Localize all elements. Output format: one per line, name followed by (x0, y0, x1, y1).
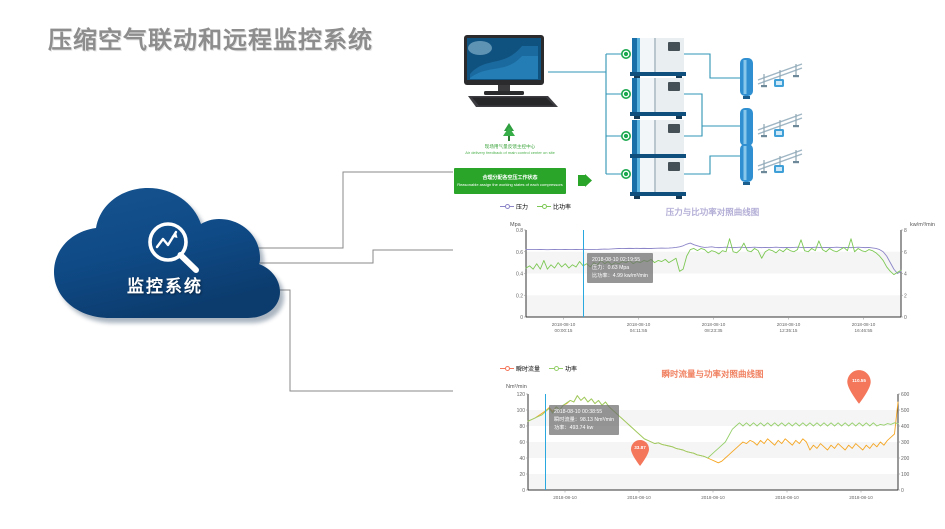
diagram-caption-en: Air delivery feedback of main control ce… (446, 150, 574, 155)
tooltip-line2: 比功率：4.99 kw/m³/min (592, 272, 648, 280)
svg-text:00:00:15: 00:00:15 (555, 328, 573, 333)
cloud-label: 监控系统 (40, 272, 290, 297)
svg-text:0: 0 (901, 488, 904, 494)
marker-label: 33.87 (630, 445, 650, 450)
cloud-shape[interactable]: 监控系统 (40, 186, 290, 326)
svg-text:2018-08-10: 2018-08-10 (702, 322, 726, 327)
svg-text:6: 6 (904, 250, 907, 256)
svg-text:0.2: 0.2 (516, 293, 523, 299)
tooltip-line1: 瞬时流量：98.13 Nm³/min (554, 416, 614, 424)
svg-text:2018-08-10: 2018-08-10 (777, 322, 801, 327)
svg-text:300: 300 (901, 440, 910, 446)
svg-text:400: 400 (901, 424, 910, 430)
svg-text:20: 20 (519, 472, 525, 478)
svg-text:0: 0 (904, 315, 907, 321)
chart0-cursor-line (583, 230, 584, 317)
chart1-marker-1[interactable]: 110.55 (846, 370, 872, 404)
system-diagram: 现场用气量反馈主控中心 Air delivery feedback of mai… (452, 26, 942, 194)
svg-text:2018-08-10: 2018-08-10 (552, 322, 576, 327)
tree-icon (501, 122, 517, 142)
svg-text:12:35:15: 12:35:15 (780, 328, 798, 333)
svg-text:80: 80 (519, 424, 525, 430)
svg-text:60: 60 (519, 440, 525, 446)
chart1-cursor-line (545, 394, 546, 490)
tooltip-time: 2018-08-10 00:38:55 (554, 408, 614, 416)
chart1-marker-0[interactable]: 33.87 (630, 440, 650, 466)
pressure-power-chart[interactable]: 压力 比功率 压力与比功率对照曲线图 Mpa kw/m³/min 0.80.60… (490, 200, 935, 335)
svg-text:0: 0 (520, 315, 523, 321)
svg-text:2018-08-10: 2018-08-10 (701, 495, 725, 500)
flow-power-chart[interactable]: 瞬时流量 功率 瞬时流量与功率对照曲线图 Nm³/min 12010080604… (490, 362, 935, 529)
svg-text:120: 120 (517, 392, 526, 398)
svg-text:2018-08-10: 2018-08-10 (627, 495, 651, 500)
tooltip-line2: 功率：493.74 kw (554, 424, 614, 432)
svg-text:0.6: 0.6 (516, 250, 523, 256)
svg-text:0.4: 0.4 (516, 272, 523, 278)
svg-text:2: 2 (904, 293, 907, 299)
chart0-tooltip: 2018-08-10 02:19:55 压力：0.63 Mpa 比功率：4.99… (587, 253, 653, 283)
chart0-plot[interactable]: 0.80.60.40.20864202018-08-1000:00:152018… (490, 200, 935, 335)
svg-text:200: 200 (901, 456, 910, 462)
diagram-caption: 现场用气量反馈主控中心 Air delivery feedback of mai… (446, 144, 574, 155)
svg-text:40: 40 (519, 456, 525, 462)
svg-text:500: 500 (901, 408, 910, 414)
svg-text:8: 8 (904, 228, 907, 234)
green-box-en: Reasonable assign the working states of … (457, 182, 563, 187)
svg-text:16:46:55: 16:46:55 (855, 328, 873, 333)
svg-text:100: 100 (901, 472, 910, 478)
svg-text:2018-08-10: 2018-08-10 (553, 495, 577, 500)
pin-icon (846, 370, 872, 404)
arrow-right-icon (578, 174, 592, 187)
svg-text:100: 100 (517, 408, 526, 414)
svg-text:2018-08-10: 2018-08-10 (627, 322, 651, 327)
svg-text:2018-08-10: 2018-08-10 (852, 322, 876, 327)
svg-text:600: 600 (901, 392, 910, 398)
svg-text:08:23:35: 08:23:35 (705, 328, 723, 333)
tooltip-line1: 压力：0.63 Mpa (592, 264, 648, 272)
marker-label: 110.55 (846, 378, 872, 383)
svg-text:0.8: 0.8 (516, 228, 523, 234)
svg-text:4: 4 (904, 272, 907, 278)
chart1-tooltip: 2018-08-10 00:38:55 瞬时流量：98.13 Nm³/min 功… (549, 405, 619, 435)
svg-text:2018-08-10: 2018-08-10 (849, 495, 873, 500)
magnifier-chart-icon (144, 220, 204, 278)
pin-icon (630, 440, 650, 466)
tooltip-time: 2018-08-10 02:19:55 (592, 256, 648, 264)
svg-text:04:11:55: 04:11:55 (630, 328, 648, 333)
svg-text:0: 0 (522, 488, 525, 494)
slide-root: 压缩空气联动和远程监控系统 (0, 0, 945, 529)
diagram-green-box: 合理分配各空压工作状态 Reasonable assign the workin… (454, 168, 566, 194)
svg-text:2018-08-10: 2018-08-10 (775, 495, 799, 500)
